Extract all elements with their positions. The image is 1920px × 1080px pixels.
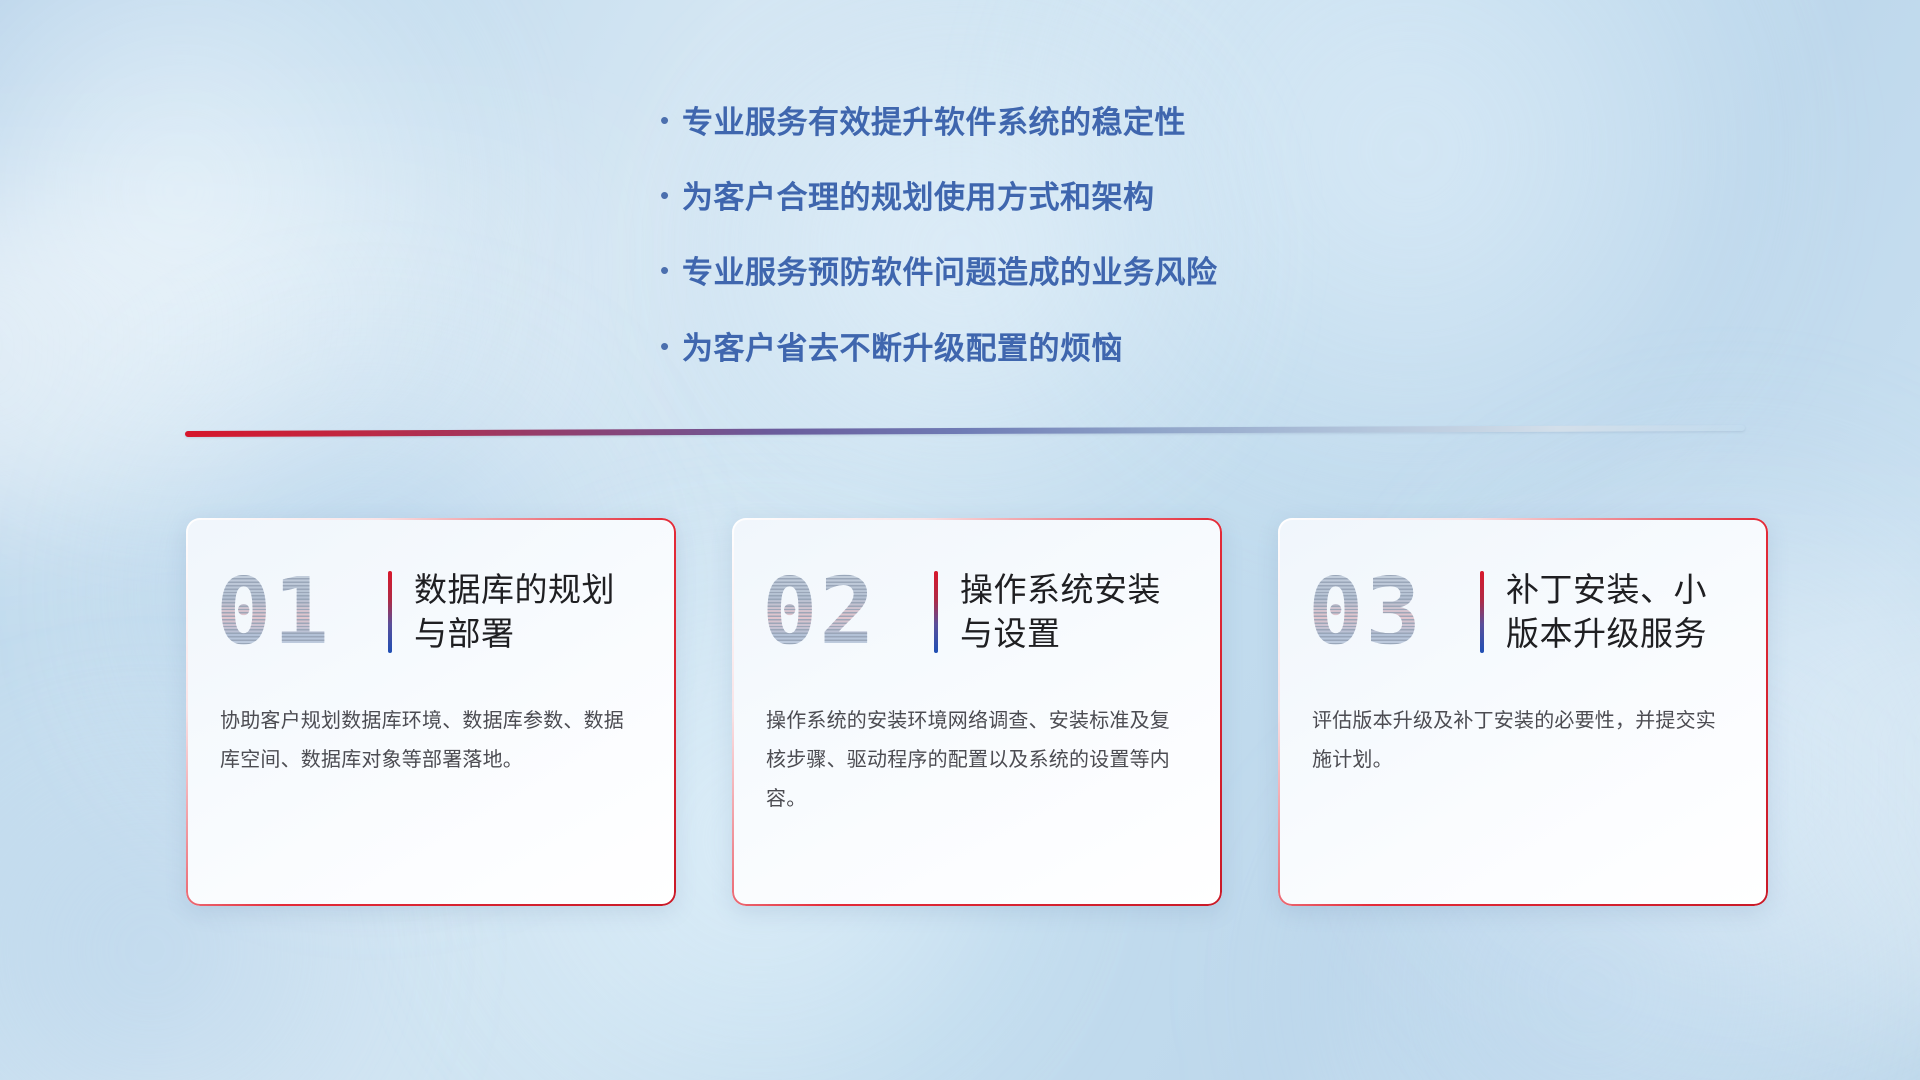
card-accent-rule [1480, 571, 1484, 653]
bullet-text: 专业服务预防软件问题造成的业务风险 [682, 254, 1218, 291]
bullet-text: 为客户省去不断升级配置的烦恼 [682, 330, 1123, 367]
service-card-03[interactable]: 03 补丁安装、小版本升级服务 评估版本升级及补丁安装的必要性，并提交实施计划。 [1278, 518, 1768, 906]
bullet-item: • 专业服务有效提升软件系统的稳定性 [660, 104, 1218, 141]
card-number: 01 [216, 566, 384, 658]
card-title: 补丁安装、小版本升级服务 [1506, 568, 1738, 655]
card-title: 操作系统安装与设置 [960, 568, 1192, 655]
bullet-item: • 为客户合理的规划使用方式和架构 [660, 179, 1218, 216]
bullet-item: • 专业服务预防软件问题造成的业务风险 [660, 254, 1218, 291]
bullet-text: 为客户合理的规划使用方式和架构 [682, 179, 1155, 216]
bullet-text: 专业服务有效提升软件系统的稳定性 [682, 104, 1186, 141]
bullet-dot-icon: • [660, 333, 682, 359]
slide-root: • 专业服务有效提升软件系统的稳定性 • 为客户合理的规划使用方式和架构 • 专… [0, 0, 1920, 1080]
service-card-01[interactable]: 01 数据库的规划与部署 协助客户规划数据库环境、数据库参数、数据库空间、数据库… [186, 518, 676, 906]
card-description: 协助客户规划数据库环境、数据库参数、数据库空间、数据库对象等部署落地。 [186, 668, 676, 780]
card-header: 03 补丁安装、小版本升级服务 [1278, 518, 1768, 668]
card-description: 评估版本升级及补丁安装的必要性，并提交实施计划。 [1278, 668, 1768, 780]
card-number: 03 [1308, 566, 1476, 658]
bullet-dot-icon: • [660, 257, 682, 283]
service-card-02[interactable]: 02 操作系统安装与设置 操作系统的安装环境网络调查、安装标准及复核步骤、驱动程… [732, 518, 1222, 906]
card-group: 01 数据库的规划与部署 协助客户规划数据库环境、数据库参数、数据库空间、数据库… [186, 518, 1768, 906]
card-description: 操作系统的安装环境网络调查、安装标准及复核步骤、驱动程序的配置以及系统的设置等内… [732, 668, 1222, 819]
bullet-item: • 为客户省去不断升级配置的烦恼 [660, 330, 1218, 367]
card-header: 02 操作系统安装与设置 [732, 518, 1222, 668]
card-header: 01 数据库的规划与部署 [186, 518, 676, 668]
card-accent-rule [934, 571, 938, 653]
card-accent-rule [388, 571, 392, 653]
bullet-dot-icon: • [660, 107, 682, 133]
card-number: 02 [762, 566, 930, 658]
bullet-dot-icon: • [660, 182, 682, 208]
section-divider [185, 425, 1745, 437]
card-title: 数据库的规划与部署 [414, 568, 646, 655]
bullet-list: • 专业服务有效提升软件系统的稳定性 • 为客户合理的规划使用方式和架构 • 专… [660, 104, 1218, 405]
